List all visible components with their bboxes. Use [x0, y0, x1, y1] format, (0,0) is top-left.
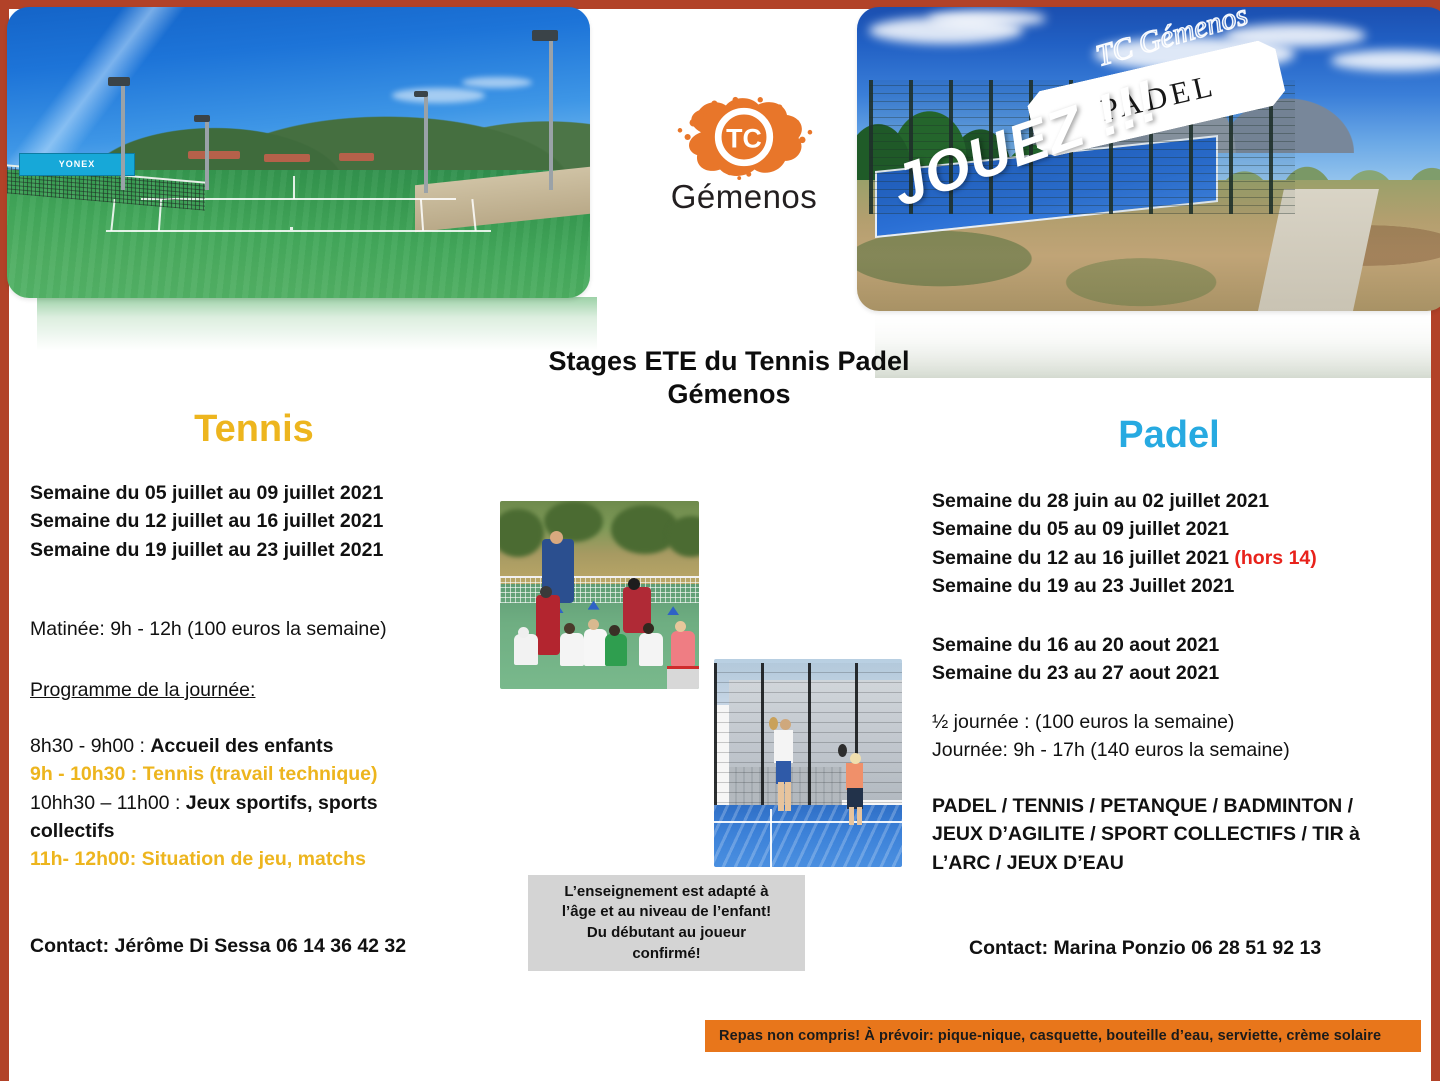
list-item: Semaine du 28 juin au 02 juillet 2021: [932, 487, 1402, 515]
padel-activities-text: PADEL / TENNIS / PETANQUE / BADMINTON / …: [932, 792, 1402, 877]
tennis-program-label: Programme de la journée:: [30, 676, 460, 704]
pedagogy-line: confirmé!: [562, 944, 771, 965]
padel-july-weeks-list: Semaine du 28 juin au 02 juillet 2021 Se…: [932, 487, 1402, 600]
pedagogy-line: L’enseignement est adapté à: [562, 882, 771, 903]
tennis-weeks-list: Semaine du 05 juillet au 09 juillet 2021…: [30, 479, 460, 564]
club-logo: TC Gémenos: [649, 94, 839, 219]
list-item: Semaine du 16 au 20 aout 2021: [932, 631, 1402, 659]
padel-august-weeks-list: Semaine du 16 au 20 aout 2021 Semaine du…: [932, 631, 1402, 688]
schedule-row: 11h- 12h00: Situation de jeu, matchs: [30, 845, 450, 873]
poster-canvas: YONEX TC Gémenos: [9, 9, 1431, 1081]
schedule-activity: Accueil des enfants: [150, 735, 333, 757]
list-item: Semaine du 12 juillet au 16 juillet 2021: [30, 507, 460, 535]
tennis-contact: Contact: Jérôme Di Sessa 06 14 36 42 32: [30, 932, 480, 960]
list-item-text: Semaine du 12 au 16 juillet 2021: [932, 547, 1234, 569]
padel-prices-list: ½ journée : (100 euros la semaine) Journ…: [932, 708, 1402, 765]
yonex-banner: YONEX: [19, 153, 136, 176]
page-title-line2: Gémenos: [309, 378, 1149, 411]
list-item-text: Semaine du 28 juin au 02 juillet 2021: [932, 490, 1269, 512]
poster-slide: YONEX TC Gémenos: [0, 0, 1440, 1081]
padel-players-photo: [714, 659, 902, 867]
tennis-court-photo: YONEX: [7, 7, 590, 298]
list-item: Journée: 9h - 17h (140 euros la semaine): [932, 736, 1402, 764]
section-heading-tennis: Tennis: [104, 408, 404, 451]
kids-tennis-lesson-photo: [500, 501, 699, 689]
page-title: Stages ETE du Tennis Padel Gémenos: [309, 345, 1149, 411]
list-item: Semaine du 19 juillet au 23 juillet 2021: [30, 536, 460, 564]
schedule-time: 10hh30 – 11h00 :: [30, 792, 186, 814]
list-item: ½ journée : (100 euros la semaine): [932, 708, 1402, 736]
notice-banner: Repas non compris! À prévoir: pique-niqu…: [705, 1020, 1421, 1052]
schedule-time: 8h30 - 9h00 :: [30, 735, 150, 757]
pedagogy-line: Du débutant au joueur: [562, 923, 771, 944]
list-item-note: (hors 14): [1234, 547, 1316, 569]
section-heading-padel: Padel: [1019, 414, 1319, 457]
tennis-schedule-list: 8h30 - 9h00 : Accueil des enfants 9h - 1…: [30, 732, 450, 873]
tennis-morning-price: Matinée: 9h - 12h (100 euros la semaine): [30, 615, 460, 643]
pedagogy-line: l’âge et au niveau de l’enfant!: [562, 902, 771, 923]
logo-wordmark: Gémenos: [649, 178, 839, 216]
notice-banner-text: Repas non compris! À prévoir: pique-niqu…: [719, 1028, 1381, 1044]
list-item: Semaine du 05 au 09 juillet 2021: [932, 515, 1402, 543]
page-title-line1: Stages ETE du Tennis Padel: [548, 346, 909, 376]
orange-splash-logo-icon: TC: [671, 94, 817, 180]
schedule-row: 10hh30 – 11h00 : Jeux sportifs, sports c…: [30, 789, 450, 846]
list-item: Semaine du 23 au 27 aout 2021: [932, 659, 1402, 687]
list-item: Semaine du 12 au 16 juillet 2021 (hors 1…: [932, 544, 1402, 572]
schedule-activity: Situation de jeu, matchs: [142, 848, 366, 870]
padel-court-photo: TC Gémenos PADEL JOUEZ !!!: [857, 7, 1440, 311]
schedule-time: 11h- 12h00:: [30, 848, 142, 870]
schedule-row: 8h30 - 9h00 : Accueil des enfants: [30, 732, 450, 760]
pedagogy-note-box: L’enseignement est adapté à l’âge et au …: [528, 875, 805, 971]
list-item: Semaine du 05 juillet au 09 juillet 2021: [30, 479, 460, 507]
schedule-row: 9h - 10h30 : Tennis (travail technique): [30, 760, 450, 788]
schedule-time: 9h - 10h30 :: [30, 763, 143, 785]
list-item-text: Semaine du 19 au 23 Juillet 2021: [932, 575, 1234, 597]
schedule-activity: Tennis (travail technique): [143, 763, 378, 785]
list-item: Semaine du 19 au 23 Juillet 2021: [932, 572, 1402, 600]
svg-text:TC: TC: [726, 124, 762, 154]
padel-contact: Contact: Marina Ponzio 06 28 51 92 13: [969, 934, 1409, 962]
list-item-text: Semaine du 05 au 09 juillet 2021: [932, 518, 1229, 540]
